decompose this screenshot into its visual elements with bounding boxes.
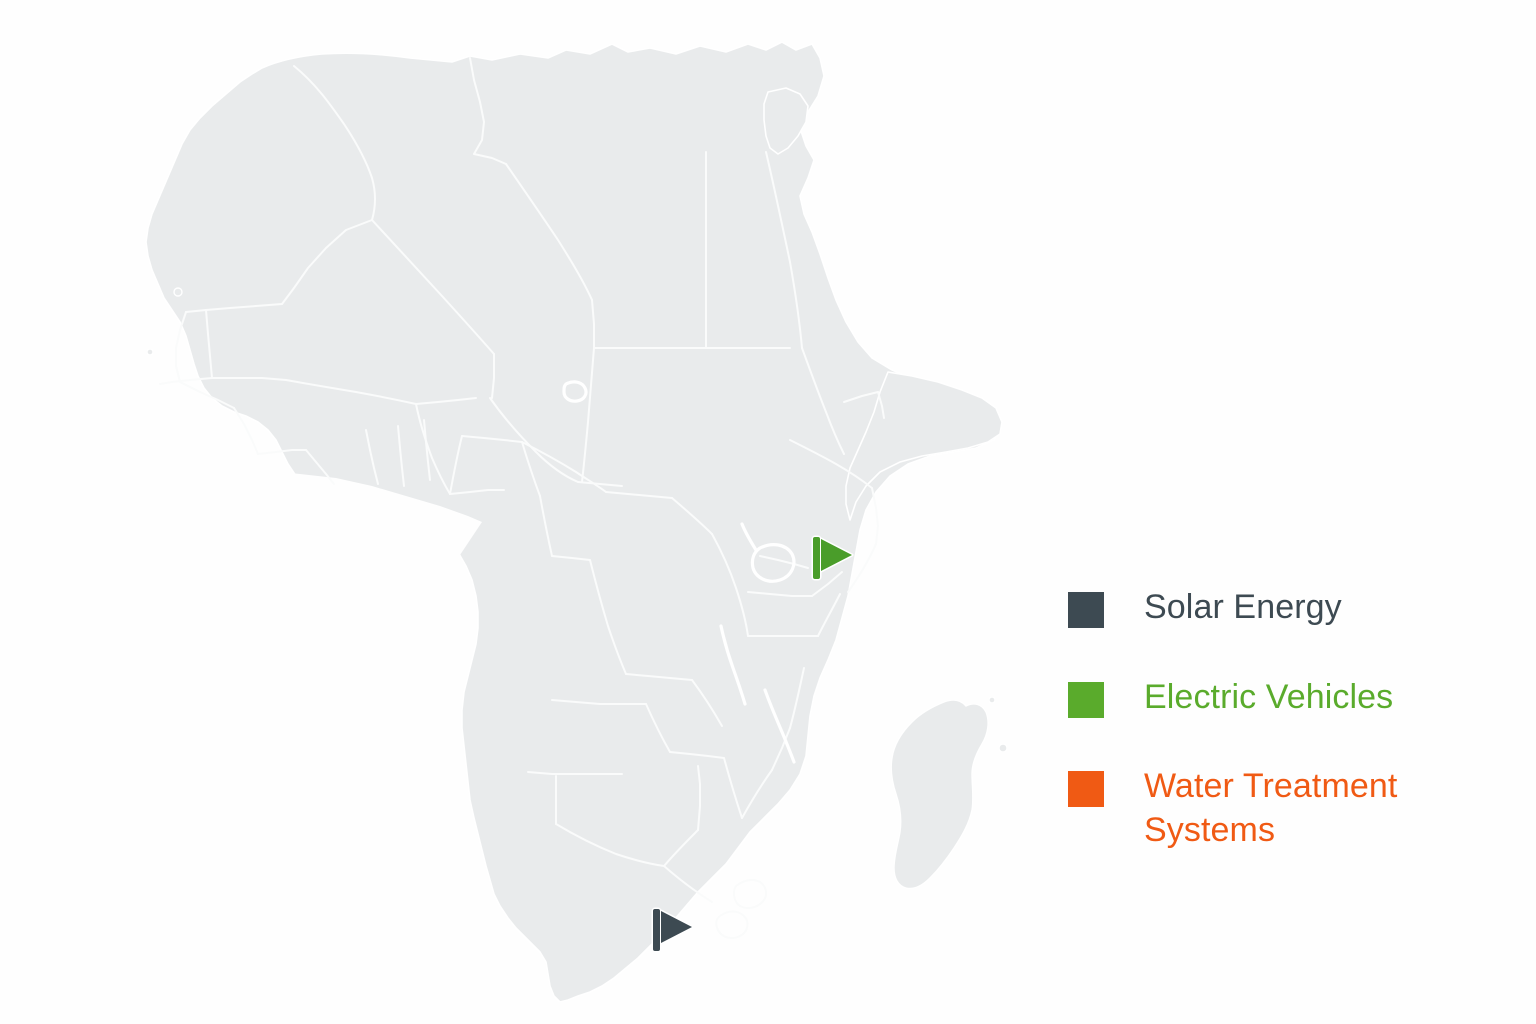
electric-vehicles-marker[interactable]: [810, 534, 856, 580]
legend-item-electric-vehicles[interactable]: Electric Vehicles: [1068, 676, 1488, 720]
canary-island: [174, 288, 182, 296]
madagascar-island: [891, 700, 988, 888]
legend-swatch-electric-vehicles: [1068, 682, 1104, 718]
solar-energy-marker[interactable]: [650, 906, 696, 952]
mauritius-island: [999, 744, 1007, 752]
flag-icon[interactable]: [810, 534, 856, 580]
legend-label-solar-energy: Solar Energy: [1144, 586, 1342, 630]
legend-label-water-treatment-systems: Water Treatment Systems: [1144, 765, 1397, 852]
legend-swatch-solar-energy: [1068, 592, 1104, 628]
map-canvas: Solar Energy Electric Vehicles Water Tre…: [0, 0, 1536, 1024]
legend-item-water-treatment-systems[interactable]: Water Treatment Systems: [1068, 765, 1488, 852]
legend-swatch-water-treatment-systems: [1068, 771, 1104, 807]
comoros-island: [989, 697, 995, 703]
cape-verde-island: [147, 349, 153, 355]
africa-map-svg: [0, 0, 1536, 1024]
red-sea-water: [814, 52, 1160, 376]
map-legend: Solar Energy Electric Vehicles Water Tre…: [1068, 586, 1488, 852]
legend-label-electric-vehicles: Electric Vehicles: [1144, 676, 1393, 720]
flag-icon[interactable]: [650, 906, 696, 952]
legend-item-solar-energy[interactable]: Solar Energy: [1068, 586, 1488, 630]
